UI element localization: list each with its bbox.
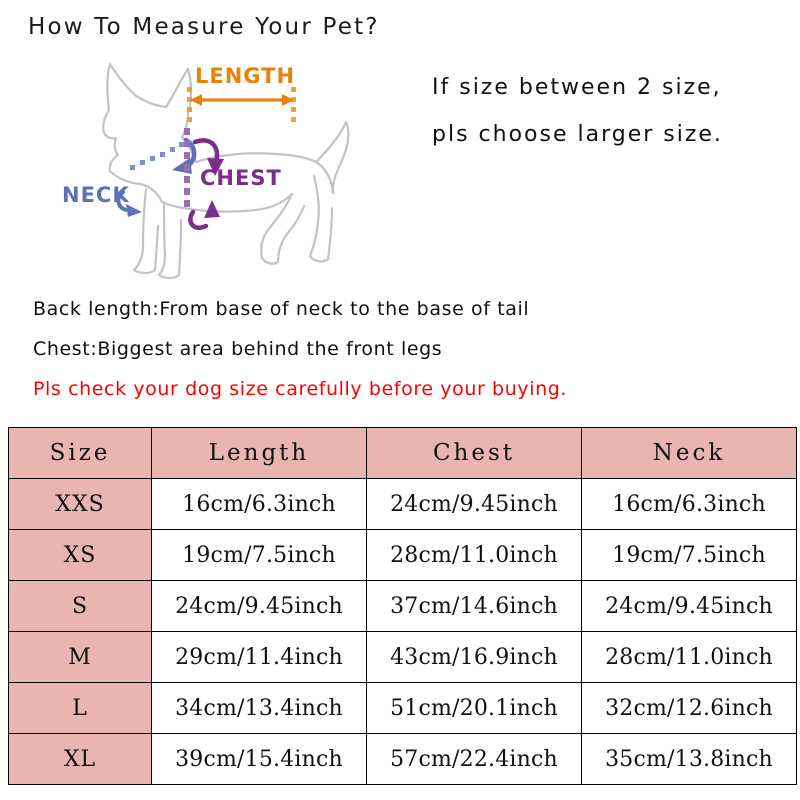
length-measure-group: LENGTH: [187, 64, 296, 122]
table-row: XXS 16cm/6.3inch 24cm/9.45inch 16cm/6.3i…: [9, 479, 797, 530]
cell-length: 34cm/13.4inch: [152, 683, 367, 734]
size-check-warning: Pls check your dog size carefully before…: [33, 369, 773, 409]
size-chart-table: Size Length Chest Neck XXS 16cm/6.3inch …: [8, 427, 797, 785]
cell-size: M: [9, 632, 152, 683]
table-row: M 29cm/11.4inch 43cm/16.9inch 28cm/11.0i…: [9, 632, 797, 683]
cell-length: 29cm/11.4inch: [152, 632, 367, 683]
neck-label: NECK: [62, 183, 130, 207]
column-header-chest: Chest: [367, 428, 582, 479]
cell-neck: 32cm/12.6inch: [582, 683, 797, 734]
cell-chest: 24cm/9.45inch: [367, 479, 582, 530]
chest-label: CHEST: [200, 166, 282, 190]
size-chart-table-wrapper: Size Length Chest Neck XXS 16cm/6.3inch …: [8, 427, 797, 785]
back-length-description: Back length:From base of neck to the bas…: [33, 289, 773, 329]
cell-size: XL: [9, 734, 152, 785]
measurement-instructions: Back length:From base of neck to the bas…: [33, 289, 773, 409]
chest-bottom-arrowhead-icon: [204, 200, 220, 218]
chest-bottom-arrow-icon: [190, 212, 206, 228]
cell-chest: 51cm/20.1inch: [367, 683, 582, 734]
table-header-row: Size Length Chest Neck: [9, 428, 797, 479]
cell-size: XXS: [9, 479, 152, 530]
column-header-size: Size: [9, 428, 152, 479]
cell-chest: 28cm/11.0inch: [367, 530, 582, 581]
length-guide-right-icon: [291, 87, 296, 122]
cell-chest: 57cm/22.4inch: [367, 734, 582, 785]
cell-neck: 19cm/7.5inch: [582, 530, 797, 581]
length-arrow-icon: [190, 94, 294, 106]
cell-chest: 37cm/14.6inch: [367, 581, 582, 632]
column-header-neck: Neck: [582, 428, 797, 479]
size-advice-note: If size between 2 size, pls choose large…: [432, 64, 792, 158]
cell-neck: 35cm/13.8inch: [582, 734, 797, 785]
cell-size: XS: [9, 530, 152, 581]
cell-length: 24cm/9.45inch: [152, 581, 367, 632]
cell-neck: 28cm/11.0inch: [582, 632, 797, 683]
length-label: LENGTH: [195, 64, 295, 88]
column-header-length: Length: [152, 428, 367, 479]
cell-chest: 43cm/16.9inch: [367, 632, 582, 683]
chest-description: Chest:Biggest area behind the front legs: [33, 329, 773, 369]
table-row: L 34cm/13.4inch 51cm/20.1inch 32cm/12.6i…: [9, 683, 797, 734]
size-advice-line-2: pls choose larger size.: [432, 111, 792, 158]
dog-measurement-diagram: LENGTH NECK: [60, 50, 410, 285]
table-row: S 24cm/9.45inch 37cm/14.6inch 24cm/9.45i…: [9, 581, 797, 632]
chest-measure-group: CHEST: [184, 128, 282, 228]
size-advice-line-1: If size between 2 size,: [432, 64, 792, 111]
cell-neck: 16cm/6.3inch: [582, 479, 797, 530]
page-title: How To Measure Your Pet?: [28, 14, 380, 40]
cell-neck: 24cm/9.45inch: [582, 581, 797, 632]
cell-length: 19cm/7.5inch: [152, 530, 367, 581]
table-row: XS 19cm/7.5inch 28cm/11.0inch 19cm/7.5in…: [9, 530, 797, 581]
neck-dotted-band-icon: [130, 142, 184, 170]
cell-length: 16cm/6.3inch: [152, 479, 367, 530]
table-row: XL 39cm/15.4inch 57cm/22.4inch 35cm/13.8…: [9, 734, 797, 785]
cell-size: S: [9, 581, 152, 632]
cell-length: 39cm/15.4inch: [152, 734, 367, 785]
cell-size: L: [9, 683, 152, 734]
